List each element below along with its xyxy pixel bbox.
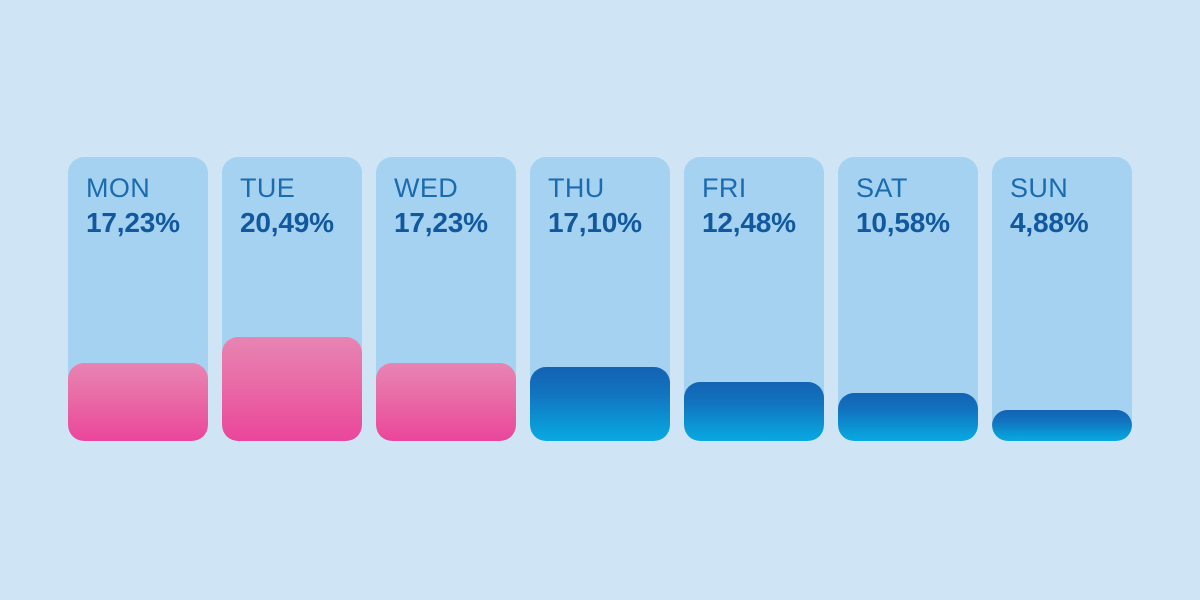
bar-labels-thu: THU 17,10% [548, 175, 662, 237]
bar-fill-wed [376, 363, 516, 441]
bar-fill-sun [992, 410, 1132, 441]
bar-column-tue[interactable]: TUE 20,49% [222, 157, 362, 441]
bar-chart: MON 17,23% TUE 20,49% WED 17,23% THU 17,… [0, 0, 1200, 600]
bar-fill-thu [530, 367, 670, 441]
value-label-sat: 10,58% [856, 209, 970, 237]
day-label-sat: SAT [856, 175, 970, 202]
bar-labels-sat: SAT 10,58% [856, 175, 970, 237]
day-label-fri: FRI [702, 175, 816, 202]
bar-fill-tue [222, 337, 362, 441]
value-label-mon: 17,23% [86, 209, 200, 237]
value-label-wed: 17,23% [394, 209, 508, 237]
day-label-thu: THU [548, 175, 662, 202]
bar-labels-fri: FRI 12,48% [702, 175, 816, 237]
bar-column-wed[interactable]: WED 17,23% [376, 157, 516, 441]
day-label-mon: MON [86, 175, 200, 202]
value-label-thu: 17,10% [548, 209, 662, 237]
bar-fill-sat [838, 393, 978, 441]
day-label-tue: TUE [240, 175, 354, 202]
bar-labels-tue: TUE 20,49% [240, 175, 354, 237]
bar-labels-mon: MON 17,23% [86, 175, 200, 237]
bar-chart-plot-area: MON 17,23% TUE 20,49% WED 17,23% THU 17,… [68, 157, 1132, 441]
day-label-wed: WED [394, 175, 508, 202]
bar-fill-mon [68, 363, 208, 441]
bar-column-fri[interactable]: FRI 12,48% [684, 157, 824, 441]
value-label-sun: 4,88% [1010, 209, 1124, 237]
bar-labels-wed: WED 17,23% [394, 175, 508, 237]
bar-column-thu[interactable]: THU 17,10% [530, 157, 670, 441]
bar-column-sun[interactable]: SUN 4,88% [992, 157, 1132, 441]
bar-column-sat[interactable]: SAT 10,58% [838, 157, 978, 441]
bar-fill-fri [684, 382, 824, 441]
value-label-tue: 20,49% [240, 209, 354, 237]
bar-labels-sun: SUN 4,88% [1010, 175, 1124, 237]
bar-column-mon[interactable]: MON 17,23% [68, 157, 208, 441]
day-label-sun: SUN [1010, 175, 1124, 202]
value-label-fri: 12,48% [702, 209, 816, 237]
